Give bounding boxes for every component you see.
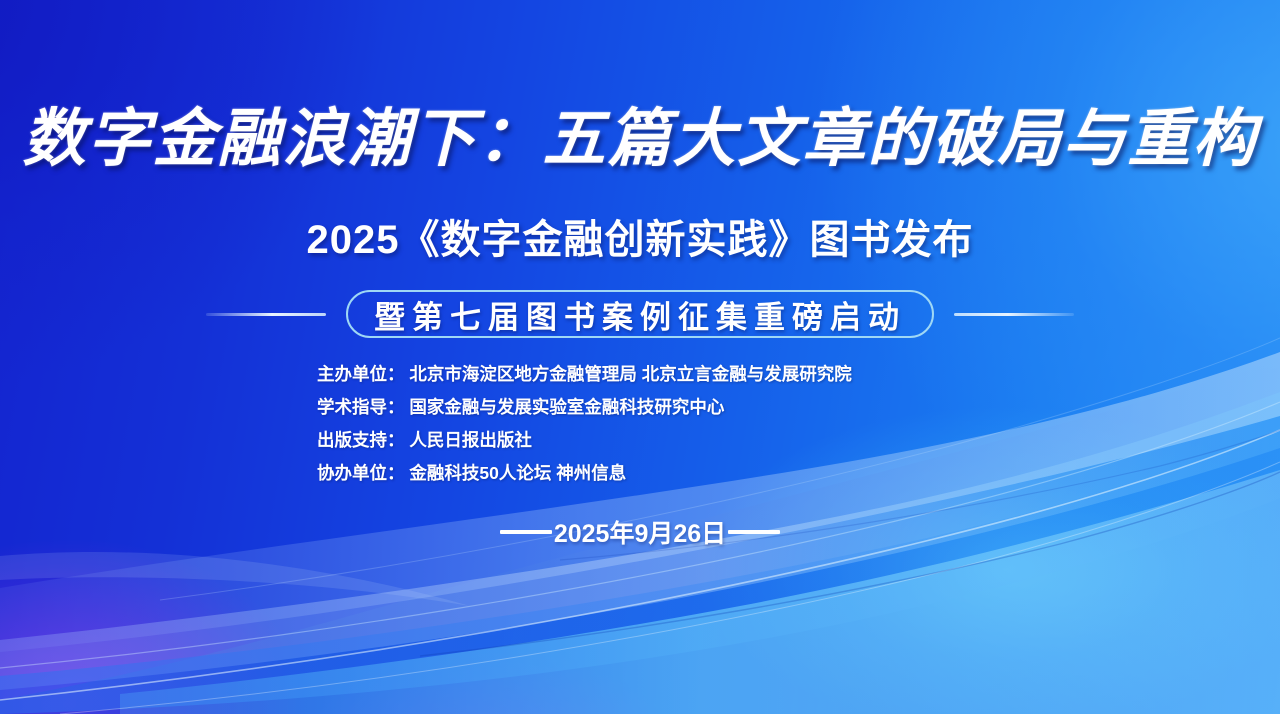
page-title: 数字金融浪潮下：五篇大文章的破局与重构: [0, 106, 1280, 172]
event-date-row: 2025年9月26日: [0, 514, 1280, 550]
organization-label: 学术指导：: [317, 397, 405, 417]
organization-label: 主办单位：: [317, 364, 405, 384]
organization-value: 国家金融与发展实验室金融科技研究中心: [409, 397, 724, 417]
organization-label: 出版支持：: [317, 430, 405, 450]
event-date: 2025年9月26日: [552, 514, 728, 550]
organization-value: 人民日报出版社: [409, 430, 532, 450]
subtitle: 2025《数字金融创新实践》图书发布: [0, 207, 1280, 265]
pill-banner-row: 暨第七届图书案例征集重磅启动: [0, 288, 1280, 340]
decorative-line-left: [206, 313, 326, 316]
organization-row: 出版支持： 人民日报出版社: [317, 424, 1017, 457]
pill-banner: 暨第七届图书案例征集重磅启动: [346, 290, 934, 338]
organization-value: 金融科技50人论坛 神州信息: [409, 463, 626, 483]
pill-banner-label: 暨第七届图书案例征集重磅启动: [374, 292, 906, 337]
date-dash-left-icon: [500, 530, 552, 534]
organization-label: 协办单位：: [317, 463, 405, 483]
organization-row: 学术指导： 国家金融与发展实验室金融科技研究中心: [317, 391, 1017, 424]
decorative-line-right: [954, 313, 1074, 316]
poster-canvas: 数字金融浪潮下：五篇大文章的破局与重构 2025《数字金融创新实践》图书发布 暨…: [0, 0, 1280, 714]
organization-row: 协办单位： 金融科技50人论坛 神州信息: [317, 457, 1017, 490]
organizations-block: 主办单位： 北京市海淀区地方金融管理局 北京立言金融与发展研究院 学术指导： 国…: [317, 358, 1017, 490]
organization-row: 主办单位： 北京市海淀区地方金融管理局 北京立言金融与发展研究院: [317, 358, 1017, 391]
organization-value: 北京市海淀区地方金融管理局 北京立言金融与发展研究院: [409, 364, 851, 384]
date-dash-right-icon: [728, 530, 780, 534]
